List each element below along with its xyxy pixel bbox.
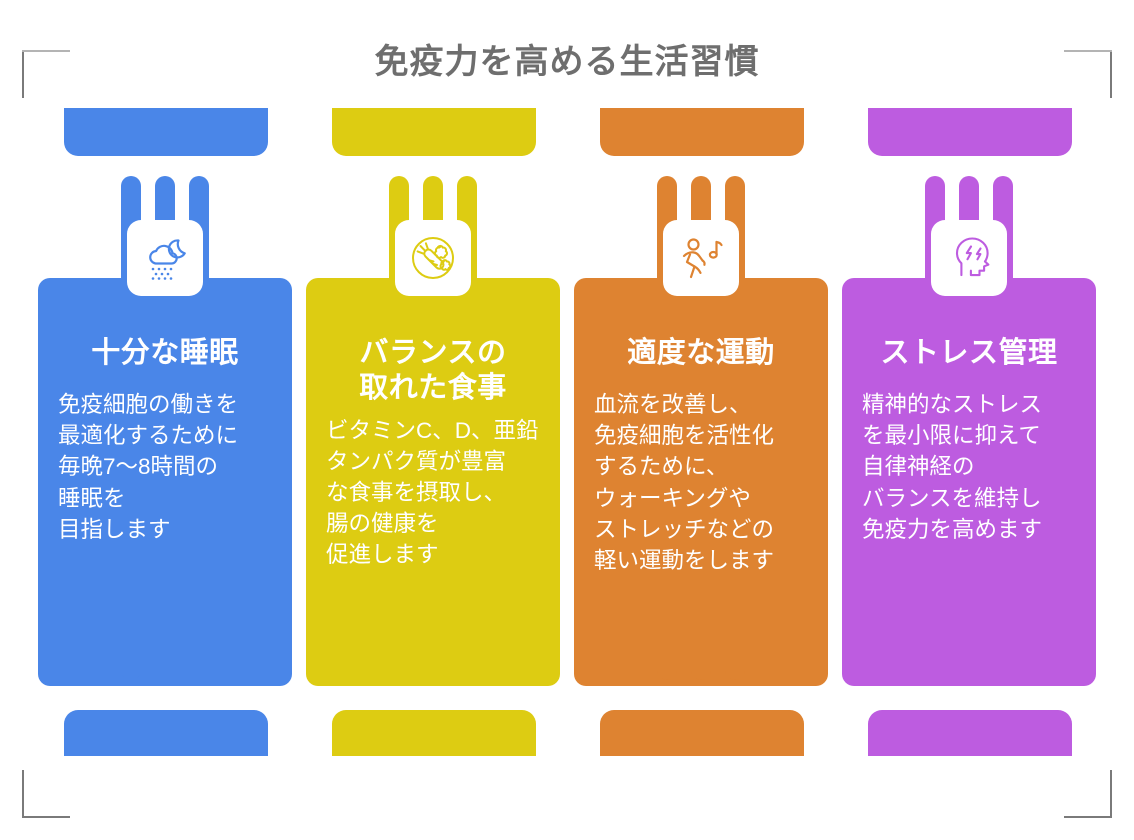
card-diet[interactable]: バランスの 取れた食事 ビタミンC、D、亜鉛 タンパク質が豊富 な食事を摂取し、… (306, 108, 560, 798)
cloud-moon-snow-icon (140, 233, 190, 283)
card-title: ストレス管理 (854, 336, 1084, 371)
card-bottom-cap (600, 710, 804, 756)
card-bottom-legs (38, 628, 292, 680)
card-top-cap (600, 108, 804, 156)
card-body-text: 血流を改善し、 免疫細胞を活性化 するために、 ウォーキングや ストレッチなどの… (586, 389, 816, 575)
card-row: 十分な睡眠 免疫細胞の働きを 最適化するために 毎晩7〜8時間の 睡眠を 目指し… (38, 108, 1096, 798)
card-bottom-legs (306, 628, 560, 680)
infographic-canvas: 免疫力を高める生活習慣 十分な睡眠 免疫細胞の働きを 最適化するために 毎晩7〜… (0, 0, 1134, 840)
card-stress[interactable]: ストレス管理 精神的なストレス を最小限に抑えて 自律神経の バランスを維持し … (842, 108, 1096, 798)
card-panel: バランスの 取れた食事 ビタミンC、D、亜鉛 タンパク質が豊富 な食事を摂取し、… (306, 278, 560, 686)
card-bottom-legs (574, 628, 828, 680)
icon-tile (127, 220, 203, 296)
card-panel: 適度な運動 血流を改善し、 免疫細胞を活性化 するために、 ウォーキングや スト… (574, 278, 828, 686)
card-panel: 十分な睡眠 免疫細胞の働きを 最適化するために 毎晩7〜8時間の 睡眠を 目指し… (38, 278, 292, 686)
card-sleep[interactable]: 十分な睡眠 免疫細胞の働きを 最適化するために 毎晩7〜8時間の 睡眠を 目指し… (38, 108, 292, 798)
icon-tile (931, 220, 1007, 296)
running-person-music-icon (676, 233, 726, 283)
card-exercise[interactable]: 適度な運動 血流を改善し、 免疫細胞を活性化 するために、 ウォーキングや スト… (574, 108, 828, 798)
card-title: バランスの 取れた食事 (318, 336, 548, 407)
card-top-cap (332, 108, 536, 156)
card-body-text: 精神的なストレス を最小限に抑えて 自律神経の バランスを維持し 免疫力を高めま… (854, 389, 1084, 544)
card-bottom-cap (868, 710, 1072, 756)
card-title: 十分な睡眠 (50, 336, 280, 371)
card-top-cap (868, 108, 1072, 156)
page-title: 免疫力を高める生活習慣 (0, 34, 1134, 83)
card-title: 適度な運動 (586, 336, 816, 371)
card-top-cap (64, 108, 268, 156)
card-bottom-cap (64, 710, 268, 756)
icon-tile (395, 220, 471, 296)
card-bottom-legs (842, 628, 1096, 680)
icon-tile (663, 220, 739, 296)
head-lightning-icon (944, 233, 994, 283)
card-bottom-cap (332, 710, 536, 756)
card-panel: ストレス管理 精神的なストレス を最小限に抑えて 自律神経の バランスを維持し … (842, 278, 1096, 686)
vegetable-plate-icon (408, 233, 458, 283)
card-body-text: ビタミンC、D、亜鉛 タンパク質が豊富 な食事を摂取し、 腸の健康を 促進します (318, 415, 548, 570)
card-body-text: 免疫細胞の働きを 最適化するために 毎晩7〜8時間の 睡眠を 目指します (50, 389, 280, 544)
